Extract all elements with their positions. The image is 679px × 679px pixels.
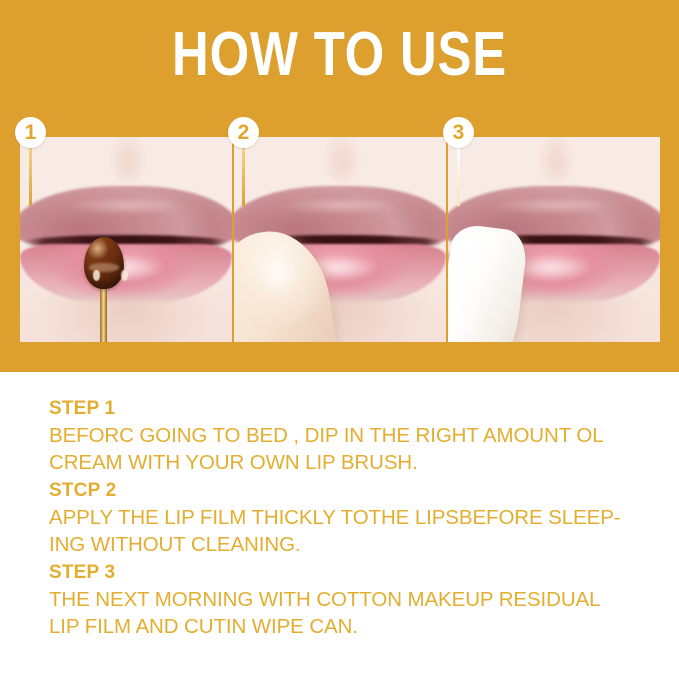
photo-panel-step-3 [448,137,660,342]
applicator-wand-icon [84,237,124,289]
page-title: HOW TO USE [61,24,618,86]
instruction-step-body: APPLY THE LIP FILM THICKLY TOTHE LIPSBEF… [49,504,659,558]
cotton-pad-icon [448,223,529,342]
instruction-step-title: STEP 1 [49,396,659,422]
step-number-badge: 2 [228,117,259,148]
step-number-badge: 1 [15,117,46,148]
philtrum-shadow [323,137,361,182]
how-to-use-infographic: HOW TO USE [0,0,679,679]
instruction-step-title: STCP 2 [49,478,659,504]
instructions-list: STEP 1 BEFORC GOING TO BED , DIP IN THE … [49,396,659,640]
photo-strip [20,137,660,342]
philtrum-shadow [537,137,575,182]
instruction-step-body: BEFORC GOING TO BED , DIP IN THE RIGHT A… [49,422,659,476]
step-marker-line [29,146,32,206]
photo-panel-step-1 [20,137,232,342]
instruction-step-3: STEP 3 THE NEXT MORNING WITH COTTON MAKE… [49,560,659,640]
philtrum-shadow [109,137,147,182]
instruction-step-body: THE NEXT MORNING WITH COTTON MAKEUP RESI… [49,586,659,640]
instruction-step-title: STEP 3 [49,560,659,586]
step-marker-line [457,146,460,206]
applicator-wand-stick-icon [100,285,107,342]
fingernail-highlight [252,249,307,304]
step-marker-line [242,146,245,206]
instruction-step-2: STCP 2 APPLY THE LIP FILM THICKLY TOTHE … [49,478,659,558]
chin-shadow [41,297,211,342]
instruction-step-1: STEP 1 BEFORC GOING TO BED , DIP IN THE … [49,396,659,476]
photo-panel-step-2 [234,137,446,342]
step-number-badge: 3 [443,117,474,148]
